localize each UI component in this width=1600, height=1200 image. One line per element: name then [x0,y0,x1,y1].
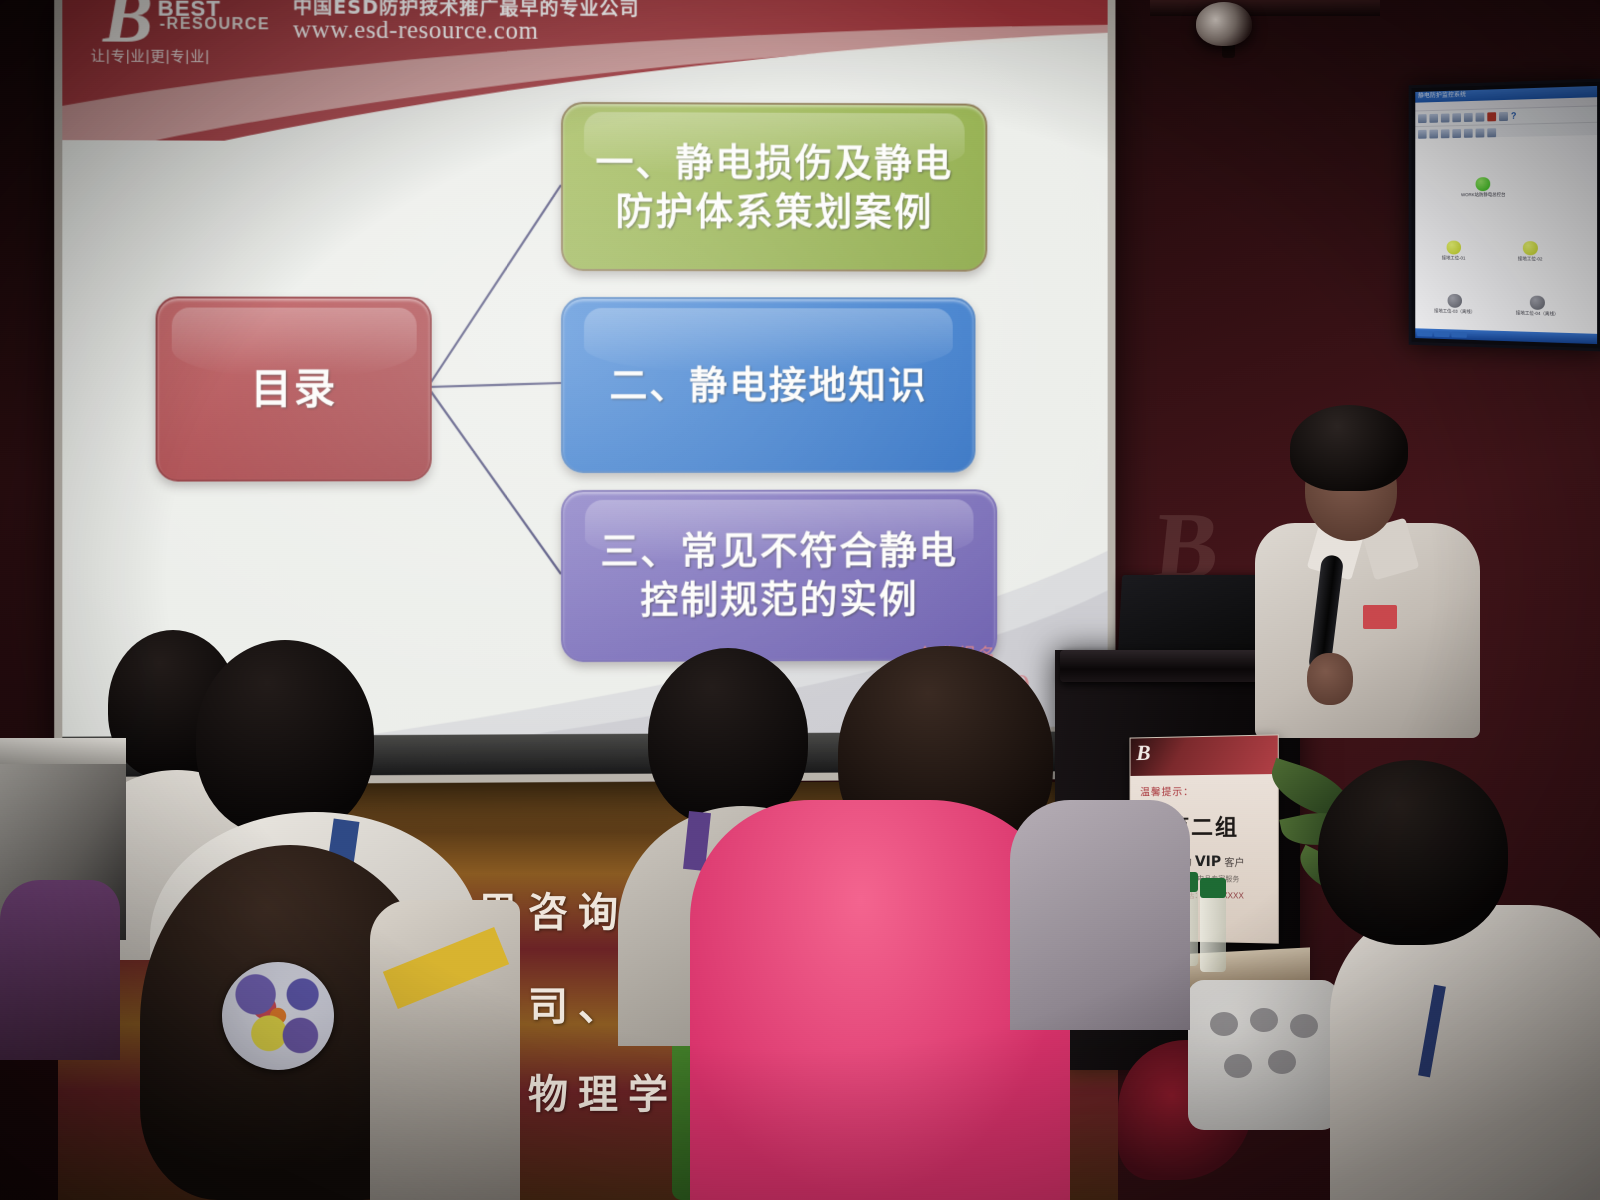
chair-perforation [1224,1054,1252,1078]
status-dot-gray [1530,296,1545,310]
screenshot-root: B 静电防护监控系统 ? [0,0,1600,1200]
audience-head [196,640,374,836]
topology-node[interactable]: 接地工位-04（离线） [1516,295,1559,317]
status-dot-green [1476,177,1491,191]
wall-monitor: 静电防护监控系统 ? [1409,78,1600,351]
left-cabinet-top [0,738,126,764]
audience-purple-shirt [0,880,120,1060]
tent-tip-label: 温馨提示： [1131,774,1278,799]
taskbar-item[interactable] [1434,331,1449,337]
diagram-center-node[interactable]: 目录 [156,296,432,481]
zoom-out-icon[interactable] [1429,129,1438,138]
diagram-branch-1[interactable]: 一、静电损伤及静电 防护体系策划案例 [561,102,987,272]
node-label: 接地工位-02 [1518,256,1543,262]
tent-vip-word: VIP [1195,854,1221,870]
open-icon[interactable] [1418,114,1427,123]
diagram-branch-2-label: 二、静电接地知识 [595,361,941,410]
foreground-person-head [1318,760,1508,945]
help-icon[interactable]: ? [1511,112,1520,121]
audience-body [1010,800,1190,1030]
diagram-branch-2[interactable]: 二、静电接地知识 [561,297,975,473]
table-icon[interactable] [1476,128,1485,137]
branch-1-line-2: 防护体系策划案例 [615,189,933,234]
branch-3-line-2: 控制规范的实例 [640,577,918,622]
status-dot-yellow [1523,241,1538,255]
diagram-center-label: 目录 [236,363,351,416]
brand-subname: -RESOURCE [160,16,271,35]
monitor-topology-canvas[interactable]: WORK站防静电总控台 接地工位-01 接地工位-02 接地工位-03（离线） … [1415,135,1597,334]
diagram-branch-1-label: 一、静电损伤及静电 防护体系策划案例 [581,138,967,236]
water-bottle [1200,886,1226,972]
monitor-screen: 静电防护监控系统 ? [1415,86,1597,344]
start-button[interactable] [1417,330,1432,336]
audience-head [648,648,808,826]
node-label: 接地工位-01 [1442,255,1466,261]
chair-perforation [1250,1008,1278,1032]
topology-node[interactable]: WORK站防静电总控台 [1461,177,1505,198]
node-label: 接地工位-03（离线） [1434,308,1475,315]
grid-icon[interactable] [1452,128,1461,137]
tent-brand-icon: B [1136,740,1150,766]
speaker-hand [1307,653,1353,705]
chair-perforation [1290,1014,1318,1038]
diagram-branch-3-label: 三、常见不符合静电 控制规范的实例 [586,527,972,625]
pan-icon[interactable] [1441,129,1450,138]
print-icon[interactable] [1441,113,1450,122]
status-dot-yellow [1446,241,1460,255]
chair-perforation [1210,1012,1238,1036]
taskbar-item[interactable] [1451,331,1466,337]
white-chair [1188,980,1338,1130]
search-icon[interactable] [1464,113,1473,122]
chart-icon[interactable] [1464,128,1473,137]
stop-icon[interactable] [1487,112,1496,121]
status-dot-gray [1447,294,1461,308]
presenter-laptop[interactable] [1118,575,1274,657]
company-website: www.esd-resource.com [293,16,538,45]
save-icon[interactable] [1429,114,1438,123]
node-label: WORK站防静电总控台 [1461,192,1505,198]
settings-icon[interactable] [1499,112,1508,121]
topology-node[interactable]: 接地工位-01 [1442,241,1466,262]
topology-node[interactable]: 接地工位-02 [1518,241,1543,262]
refresh-icon[interactable] [1452,113,1461,122]
spotlight-icon [1196,2,1252,46]
node-label: 接地工位-04（离线） [1516,310,1559,317]
speaker-pocket-badge [1363,605,1397,629]
topology-node[interactable]: 接地工位-03（离线） [1434,294,1475,316]
close-icon[interactable] [1476,113,1485,122]
bottle-cap [1200,878,1226,898]
speaker-person [1255,405,1490,735]
hair-scrunchie [222,962,334,1070]
diagram-branch-3[interactable]: 三、常见不符合静电 控制规范的实例 [561,489,997,662]
tent-header: B [1131,735,1278,776]
foreground-person [1330,905,1600,1200]
chair-perforation [1268,1050,1296,1074]
ceiling-rail [1150,0,1380,16]
branch-1-line-1: 一、静电损伤及静电 [595,140,953,185]
branch-3-line-1: 三、常见不符合静电 [600,529,958,574]
speaker-hair [1290,405,1408,491]
brand-tagline: 让|专|业|更|专|业| [91,46,210,67]
tent-vip-suffix: 客户 [1224,858,1244,869]
zoom-in-icon[interactable] [1418,129,1427,138]
list-icon[interactable] [1487,128,1496,137]
